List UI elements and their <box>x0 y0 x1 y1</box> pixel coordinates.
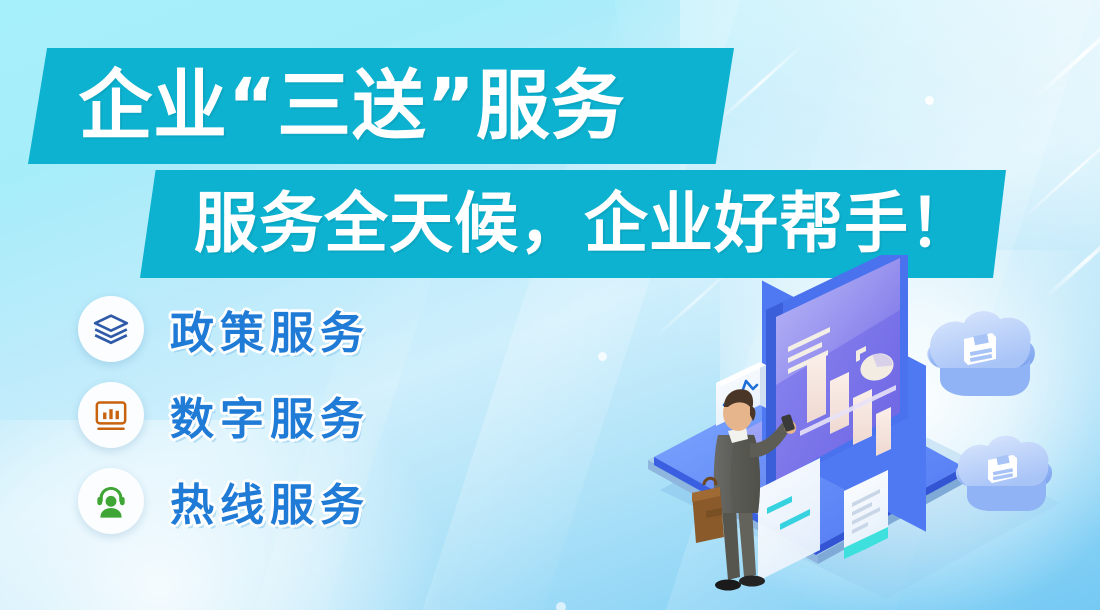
illustration-isometric-laptop <box>640 255 1100 610</box>
title-banner-primary: 企业“三送”服务 <box>28 48 734 164</box>
title-line-1: 企业“三送”服务 <box>78 64 625 148</box>
headset-support-icon <box>78 468 144 534</box>
feature-item-policy[interactable]: 政策服务 <box>78 296 370 362</box>
cloud-save-lower <box>956 436 1052 511</box>
feature-item-digital[interactable]: 数字服务 <box>78 382 370 448</box>
feature-item-hotline[interactable]: 热线服务 <box>78 468 370 534</box>
background-streak-1 <box>1034 8 1100 99</box>
feature-label-hotline: 热线服务 <box>170 469 370 533</box>
feature-list: 政策服务 数字服务 <box>78 296 370 534</box>
bar-chart-board-icon <box>78 382 144 448</box>
title-line-2: 服务全天候，企业好帮手！ <box>194 187 974 261</box>
feature-label-policy: 政策服务 <box>170 297 370 361</box>
feature-label-digital: 数字服务 <box>170 383 370 447</box>
cloud-save-upper <box>927 311 1035 396</box>
background-dot-1 <box>925 96 934 105</box>
layers-icon <box>78 296 144 362</box>
background-dot-4 <box>556 602 566 610</box>
background-streak-2 <box>1018 120 1100 223</box>
promo-banner-root: 企业“三送”服务 服务全天候，企业好帮手！ 政策服务 <box>0 0 1100 610</box>
background-dot-3 <box>598 352 607 361</box>
